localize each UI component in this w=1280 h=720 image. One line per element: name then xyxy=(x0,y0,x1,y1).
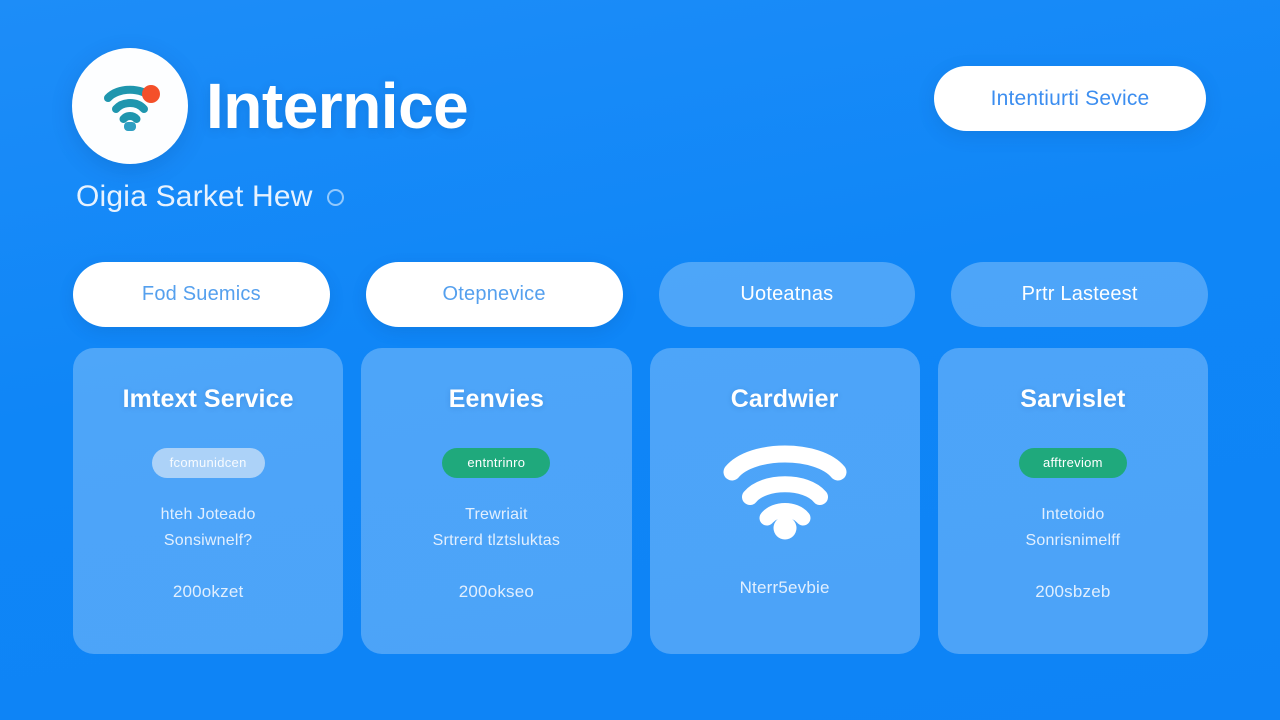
pill-tab-2[interactable]: Otepnevice xyxy=(366,262,623,327)
pill-tab-3[interactable]: Uoteatnas xyxy=(659,262,916,327)
pill-tab-4[interactable]: Prtr Lasteest xyxy=(951,262,1208,327)
card-line: hteh Joteado xyxy=(161,506,256,524)
card-meta: 200sbzeb xyxy=(1035,582,1110,602)
card-title: Sarvislet xyxy=(1020,386,1125,414)
card-title: Imtext Service xyxy=(123,386,294,414)
wifi-logo-icon xyxy=(72,48,188,164)
circle-outline-icon xyxy=(327,189,344,206)
card-line: Intetoido xyxy=(1041,506,1104,524)
card-title: Cardwier xyxy=(731,386,839,414)
status-badge: afftreviom xyxy=(1019,448,1127,478)
card-meta: 200okzet xyxy=(173,582,244,602)
card-body: Trewriait Srtrerd tlztsluktas xyxy=(433,506,560,550)
card-body: Intetoido Sonrisnimelff xyxy=(1025,506,1120,550)
status-badge: entntrinro xyxy=(442,448,550,478)
service-card[interactable]: Imtext Service fcomunidcen hteh Joteado … xyxy=(73,348,343,654)
app-root: Internice Oigia Sarket Hew Intentiurti S… xyxy=(0,0,1280,720)
card-line: Srtrerd tlztsluktas xyxy=(433,532,560,550)
filter-pill-row: Fod Suemics Otepnevice Uoteatnas Prtr La… xyxy=(73,262,1208,327)
card-body: hteh Joteado Sonsiwnelf? xyxy=(161,506,256,550)
service-card-row: Imtext Service fcomunidcen hteh Joteado … xyxy=(73,348,1208,654)
service-card[interactable]: Cardwier Nterr5evbie xyxy=(650,348,920,654)
card-title: Eenvies xyxy=(449,386,544,414)
subtitle-row: Oigia Sarket Hew xyxy=(76,180,344,214)
card-line: Trewriait xyxy=(465,506,528,524)
header-service-button[interactable]: Intentiurti Sevice xyxy=(934,66,1206,131)
status-badge: fcomunidcen xyxy=(152,448,265,478)
card-line: Sonsiwnelf? xyxy=(164,532,252,550)
subtitle-text: Oigia Sarket Hew xyxy=(76,180,313,214)
pill-tab-1[interactable]: Fod Suemics xyxy=(73,262,330,327)
service-card[interactable]: Sarvislet afftreviom Intetoido Sonrisnim… xyxy=(938,348,1208,654)
page-title: Internice xyxy=(206,74,468,138)
service-card[interactable]: Eenvies entntrinro Trewriait Srtrerd tlz… xyxy=(361,348,631,654)
wifi-icon xyxy=(722,436,848,540)
brand-header: Internice xyxy=(72,48,468,164)
card-meta: 200okseo xyxy=(459,582,534,602)
card-line: Sonrisnimelff xyxy=(1025,532,1120,550)
card-meta: Nterr5evbie xyxy=(740,578,830,598)
